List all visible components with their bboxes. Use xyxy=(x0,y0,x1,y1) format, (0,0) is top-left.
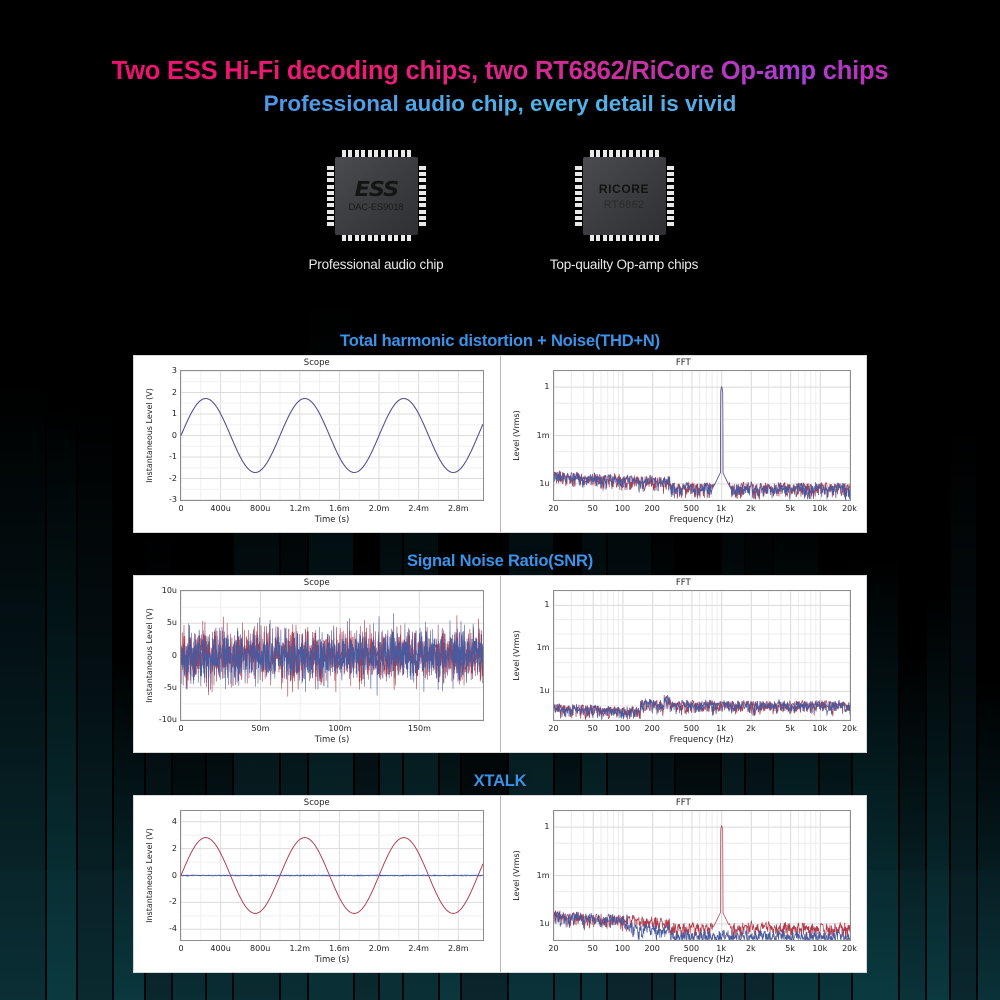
chip-pin xyxy=(348,234,352,241)
chip-pin xyxy=(342,150,346,157)
chip-pin xyxy=(381,150,385,157)
chart-xlabel-thdn-scope: Time (s) xyxy=(180,515,484,525)
chip-pin xyxy=(327,172,334,176)
chip-pin xyxy=(667,216,674,220)
chip-pin xyxy=(616,150,620,157)
chart-xtick: 10k xyxy=(804,944,836,953)
chip-caption-ricore: Top-quailty Op-amp chips xyxy=(529,257,719,272)
chart-xtick: 50 xyxy=(577,944,609,953)
chip-pin xyxy=(667,210,674,214)
chip-pin xyxy=(575,166,582,170)
chart-ylabel-xtalk-fft: Level (Vrms) xyxy=(512,810,521,941)
chart-trace xyxy=(181,875,483,876)
chip-pin xyxy=(596,234,600,241)
chip-pin xyxy=(348,150,352,157)
chart-xtick: 800u xyxy=(244,504,276,513)
chip-pin xyxy=(590,234,594,241)
chart-ytick: -3 xyxy=(148,495,177,504)
chip-pin xyxy=(394,150,398,157)
chart-xtick: 0 xyxy=(165,944,197,953)
chart-title-snr-scope: Scope xyxy=(134,578,500,588)
chart-ytick: -10u xyxy=(148,715,177,724)
chart-ytick: -5u xyxy=(148,683,177,692)
chart-xlabel-thdn-fft: Frequency (Hz) xyxy=(553,515,851,525)
chip-pin xyxy=(419,216,426,220)
section-title-xtalk: XTALK xyxy=(0,772,1000,791)
chart-xtick: 2k xyxy=(735,504,767,513)
chart-xtick: 2k xyxy=(735,724,767,733)
chip-pin xyxy=(603,150,607,157)
chip-pin xyxy=(667,203,674,207)
chart-xtick: 100m xyxy=(324,724,356,733)
chip-package-ess: ESS DAC-ES9018 xyxy=(324,148,429,243)
chart-plot-xtalk-fft xyxy=(553,810,851,941)
chip-pin xyxy=(419,166,426,170)
chip-pin xyxy=(419,197,426,201)
chart-xtick: 1k xyxy=(705,724,737,733)
chart-half-scope: ScopeInstantaneous Level (V)Time (s)10u5… xyxy=(134,576,500,752)
chip-gallery: ESS DAC-ES9018 Professional audio chip R… xyxy=(0,148,1000,272)
chart-plot-snr-fft xyxy=(553,590,851,721)
chart-ytick: 0 xyxy=(148,431,177,440)
chip-pin xyxy=(642,234,646,241)
chip-pin xyxy=(636,150,640,157)
chip-pin xyxy=(590,150,594,157)
chart-xtick: 400u xyxy=(205,944,237,953)
chart-xtick: 150m xyxy=(403,724,435,733)
chart-xtick: 200 xyxy=(636,504,668,513)
chip-package-ricore: RICORE RT6862 xyxy=(572,148,677,243)
chip-pin xyxy=(629,234,633,241)
chart-half-fft: FFTLevel (Vrms)Frequency (Hz)11m1u205010… xyxy=(501,576,867,752)
chip-pin xyxy=(609,150,613,157)
chip-pin xyxy=(327,197,334,201)
chart-ytick: 0 xyxy=(148,871,177,880)
chip-pin xyxy=(327,210,334,214)
chip-pin xyxy=(327,178,334,182)
chart-ytick: 1m xyxy=(521,431,550,440)
chip-pin xyxy=(368,150,372,157)
chart-ytick: 1 xyxy=(521,382,550,391)
equalizer-bar xyxy=(0,381,45,1000)
chip-pin xyxy=(394,234,398,241)
chip-pins-bottom xyxy=(342,234,412,241)
chip-pin xyxy=(622,150,626,157)
chip-pin xyxy=(327,166,334,170)
chip-pin xyxy=(596,150,600,157)
chip-pin xyxy=(622,234,626,241)
equalizer-bar xyxy=(927,596,949,1000)
chip-pin xyxy=(667,166,674,170)
chart-half-fft: FFTLevel (Vrms)Frequency (Hz)11m1u205010… xyxy=(501,796,867,972)
chip-pin xyxy=(667,185,674,189)
chip-pins-top xyxy=(342,150,412,157)
chart-xtick: 20 xyxy=(538,504,570,513)
chart-plot-thdn-fft xyxy=(553,370,851,501)
chart-ytick: 1m xyxy=(521,643,550,652)
chip-pin xyxy=(407,234,411,241)
chart-xtick: 2.4m xyxy=(403,944,435,953)
chart-xtick: 800u xyxy=(244,944,276,953)
chart-ytick: 0 xyxy=(148,651,177,660)
section-title-snr: Signal Noise Ratio(SNR) xyxy=(0,552,1000,571)
chip-pin xyxy=(667,191,674,195)
chip-pin xyxy=(407,150,411,157)
chip-pin xyxy=(575,210,582,214)
chart-xtick: 5k xyxy=(774,504,806,513)
chart-half-fft: FFTLevel (Vrms)Frequency (Hz)11m1u205010… xyxy=(501,356,867,532)
chart-ytick: -2 xyxy=(148,897,177,906)
chart-ylabel-snr-fft: Level (Vrms) xyxy=(512,590,521,721)
chip-pin xyxy=(327,191,334,195)
chart-xtick: 1.2m xyxy=(284,944,316,953)
chart-xtick: 50 xyxy=(577,724,609,733)
headline-block: Two ESS Hi-Fi decoding chips, two RT6862… xyxy=(0,56,1000,118)
chart-xtick: 2.4m xyxy=(403,504,435,513)
chart-panel-thdn: ScopeInstantaneous Level (V)Time (s)3210… xyxy=(133,355,867,533)
chart-ytick: 10u xyxy=(148,586,177,595)
chip-pin xyxy=(342,234,346,241)
headline-line-2: Professional audio chip, every detail is… xyxy=(0,90,1000,118)
chip-pin xyxy=(419,178,426,182)
chart-xtick: 10k xyxy=(804,724,836,733)
chip-pin xyxy=(374,234,378,241)
chart-xtick: 20k xyxy=(834,724,866,733)
chip-pin xyxy=(401,234,405,241)
chip-pin xyxy=(575,203,582,207)
chip-pin xyxy=(655,234,659,241)
equalizer-bar xyxy=(978,681,1000,1000)
chart-xtick: 2.0m xyxy=(363,944,395,953)
chart-ytick: 1m xyxy=(521,871,550,880)
equalizer-bar xyxy=(951,425,976,1000)
chart-ytick: 2 xyxy=(148,844,177,853)
chart-xtick: 2.8m xyxy=(442,504,474,513)
ess-logo-text: ESS xyxy=(354,179,397,199)
chart-xtick: 2.8m xyxy=(442,944,474,953)
chip-pin xyxy=(636,234,640,241)
chart-plot-thdn-scope xyxy=(180,370,484,501)
chip-pin xyxy=(649,150,653,157)
chip-pin xyxy=(616,234,620,241)
chip-pin xyxy=(667,197,674,201)
chart-title-thdn-scope: Scope xyxy=(134,358,500,368)
chip-pin xyxy=(575,216,582,220)
chip-pin xyxy=(361,234,365,241)
chip-pin xyxy=(327,216,334,220)
chip-pin xyxy=(419,185,426,189)
chip-pin xyxy=(419,191,426,195)
chart-ylabel-thdn-fft: Level (Vrms) xyxy=(512,370,521,501)
ricore-part-number: RT6862 xyxy=(604,199,645,211)
chart-xtick: 1.6m xyxy=(323,944,355,953)
chip-pin xyxy=(381,234,385,241)
chip-pin xyxy=(327,203,334,207)
chart-ytick: 1u xyxy=(521,686,550,695)
section-title-thdn: Total harmonic distortion + Noise(THD+N) xyxy=(0,332,1000,351)
chart-xtick: 200 xyxy=(636,724,668,733)
chart-xtick: 10k xyxy=(804,504,836,513)
chart-xtick: 200 xyxy=(636,944,668,953)
chart-title-thdn-fft: FFT xyxy=(501,358,867,368)
chart-xlabel-snr-fft: Frequency (Hz) xyxy=(553,735,851,745)
chip-pins-left xyxy=(575,166,582,226)
chip-card-ess: ESS DAC-ES9018 Professional audio chip xyxy=(281,148,471,272)
chip-pin xyxy=(388,150,392,157)
chip-pin xyxy=(575,178,582,182)
chart-ytick: 2 xyxy=(148,388,177,397)
chip-pin xyxy=(667,172,674,176)
chart-xtick: 500 xyxy=(675,724,707,733)
chart-panel-xtalk: ScopeInstantaneous Level (V)Time (s)420-… xyxy=(133,795,867,973)
chart-xtick: 2.0m xyxy=(363,504,395,513)
chip-pin xyxy=(629,150,633,157)
chart-xtick: 20k xyxy=(834,504,866,513)
chart-xtick: 5k xyxy=(774,724,806,733)
chip-pins-bottom xyxy=(590,234,660,241)
chart-ytick: 4 xyxy=(148,817,177,826)
ricore-logo-text: RICORE xyxy=(599,182,649,196)
chip-pin xyxy=(374,150,378,157)
chart-ytick: 1u xyxy=(521,919,550,928)
chip-card-ricore: RICORE RT6862 Top-quailty Op-amp chips xyxy=(529,148,719,272)
headline-line-1: Two ESS Hi-Fi decoding chips, two RT6862… xyxy=(0,56,1000,86)
chart-xtick: 100 xyxy=(606,724,638,733)
chart-half-scope: ScopeInstantaneous Level (V)Time (s)3210… xyxy=(134,356,500,532)
chart-ytick: 1u xyxy=(521,479,550,488)
chip-pin xyxy=(368,234,372,241)
equalizer-bar xyxy=(47,404,76,1000)
chart-ytick: -1 xyxy=(148,452,177,461)
chip-pin xyxy=(355,150,359,157)
chip-pin xyxy=(401,150,405,157)
chip-pin xyxy=(388,234,392,241)
chart-xlabel-xtalk-scope: Time (s) xyxy=(180,955,484,965)
chip-pins-top xyxy=(590,150,660,157)
chart-ytick: 1 xyxy=(521,600,550,609)
chart-xtick: 0 xyxy=(165,504,197,513)
chart-xtick: 1k xyxy=(705,504,737,513)
equalizer-bar xyxy=(900,656,925,1000)
equalizer-bar xyxy=(78,405,112,1000)
chart-plot-xtalk-scope xyxy=(180,810,484,941)
chart-xtick: 1.6m xyxy=(323,504,355,513)
chart-ytick: 1 xyxy=(521,822,550,831)
chip-pin xyxy=(327,222,334,226)
chart-xtick: 20 xyxy=(538,944,570,953)
chip-pin xyxy=(361,150,365,157)
chip-pin xyxy=(575,191,582,195)
chip-pins-left xyxy=(327,166,334,226)
chart-xtick: 1.2m xyxy=(284,504,316,513)
chart-ytick: 1 xyxy=(148,409,177,418)
chart-xtick: 100 xyxy=(606,504,638,513)
ess-part-number: DAC-ES9018 xyxy=(348,202,403,213)
chart-xtick: 1k xyxy=(705,944,737,953)
chip-pin xyxy=(603,234,607,241)
chip-pin xyxy=(649,234,653,241)
chart-xtick: 400u xyxy=(205,504,237,513)
chart-xtick: 50m xyxy=(244,724,276,733)
chip-body-ess: ESS DAC-ES9018 xyxy=(335,157,418,235)
chart-ytick: 5u xyxy=(148,618,177,627)
chip-pin xyxy=(575,172,582,176)
chart-xtick: 20 xyxy=(538,724,570,733)
chart-panel-snr: ScopeInstantaneous Level (V)Time (s)10u5… xyxy=(133,575,867,753)
chart-xtick: 500 xyxy=(675,504,707,513)
chip-pin xyxy=(667,178,674,182)
chip-body-ricore: RICORE RT6862 xyxy=(583,157,666,235)
chip-caption-ess: Professional audio chip xyxy=(281,257,471,272)
chip-pin xyxy=(575,185,582,189)
chip-pin xyxy=(642,150,646,157)
chart-title-snr-fft: FFT xyxy=(501,578,867,588)
chart-ytick: -4 xyxy=(148,924,177,933)
chip-pin xyxy=(419,203,426,207)
chart-xtick: 2k xyxy=(735,944,767,953)
chip-pin xyxy=(419,210,426,214)
chip-pin xyxy=(575,222,582,226)
chart-title-xtalk-fft: FFT xyxy=(501,798,867,808)
chart-xlabel-snr-scope: Time (s) xyxy=(180,735,484,745)
chart-xtick: 500 xyxy=(675,944,707,953)
chart-xtick: 50 xyxy=(577,504,609,513)
chip-pin xyxy=(419,172,426,176)
chip-pin xyxy=(667,222,674,226)
chart-xtick: 100 xyxy=(606,944,638,953)
chip-pin xyxy=(419,222,426,226)
chart-plot-snr-scope xyxy=(180,590,484,721)
chart-xlabel-xtalk-fft: Frequency (Hz) xyxy=(553,955,851,965)
chip-pins-right xyxy=(667,166,674,226)
chart-half-scope: ScopeInstantaneous Level (V)Time (s)420-… xyxy=(134,796,500,972)
chart-ytick: 3 xyxy=(148,366,177,375)
chart-xtick: 20k xyxy=(834,944,866,953)
chip-pin xyxy=(327,185,334,189)
chip-pin xyxy=(575,197,582,201)
chip-pins-right xyxy=(419,166,426,226)
chart-title-xtalk-scope: Scope xyxy=(134,798,500,808)
chart-xtick: 5k xyxy=(774,944,806,953)
chip-pin xyxy=(609,234,613,241)
chart-ytick: -2 xyxy=(148,474,177,483)
chip-pin xyxy=(655,150,659,157)
chart-xtick: 0 xyxy=(165,724,197,733)
chip-pin xyxy=(355,234,359,241)
